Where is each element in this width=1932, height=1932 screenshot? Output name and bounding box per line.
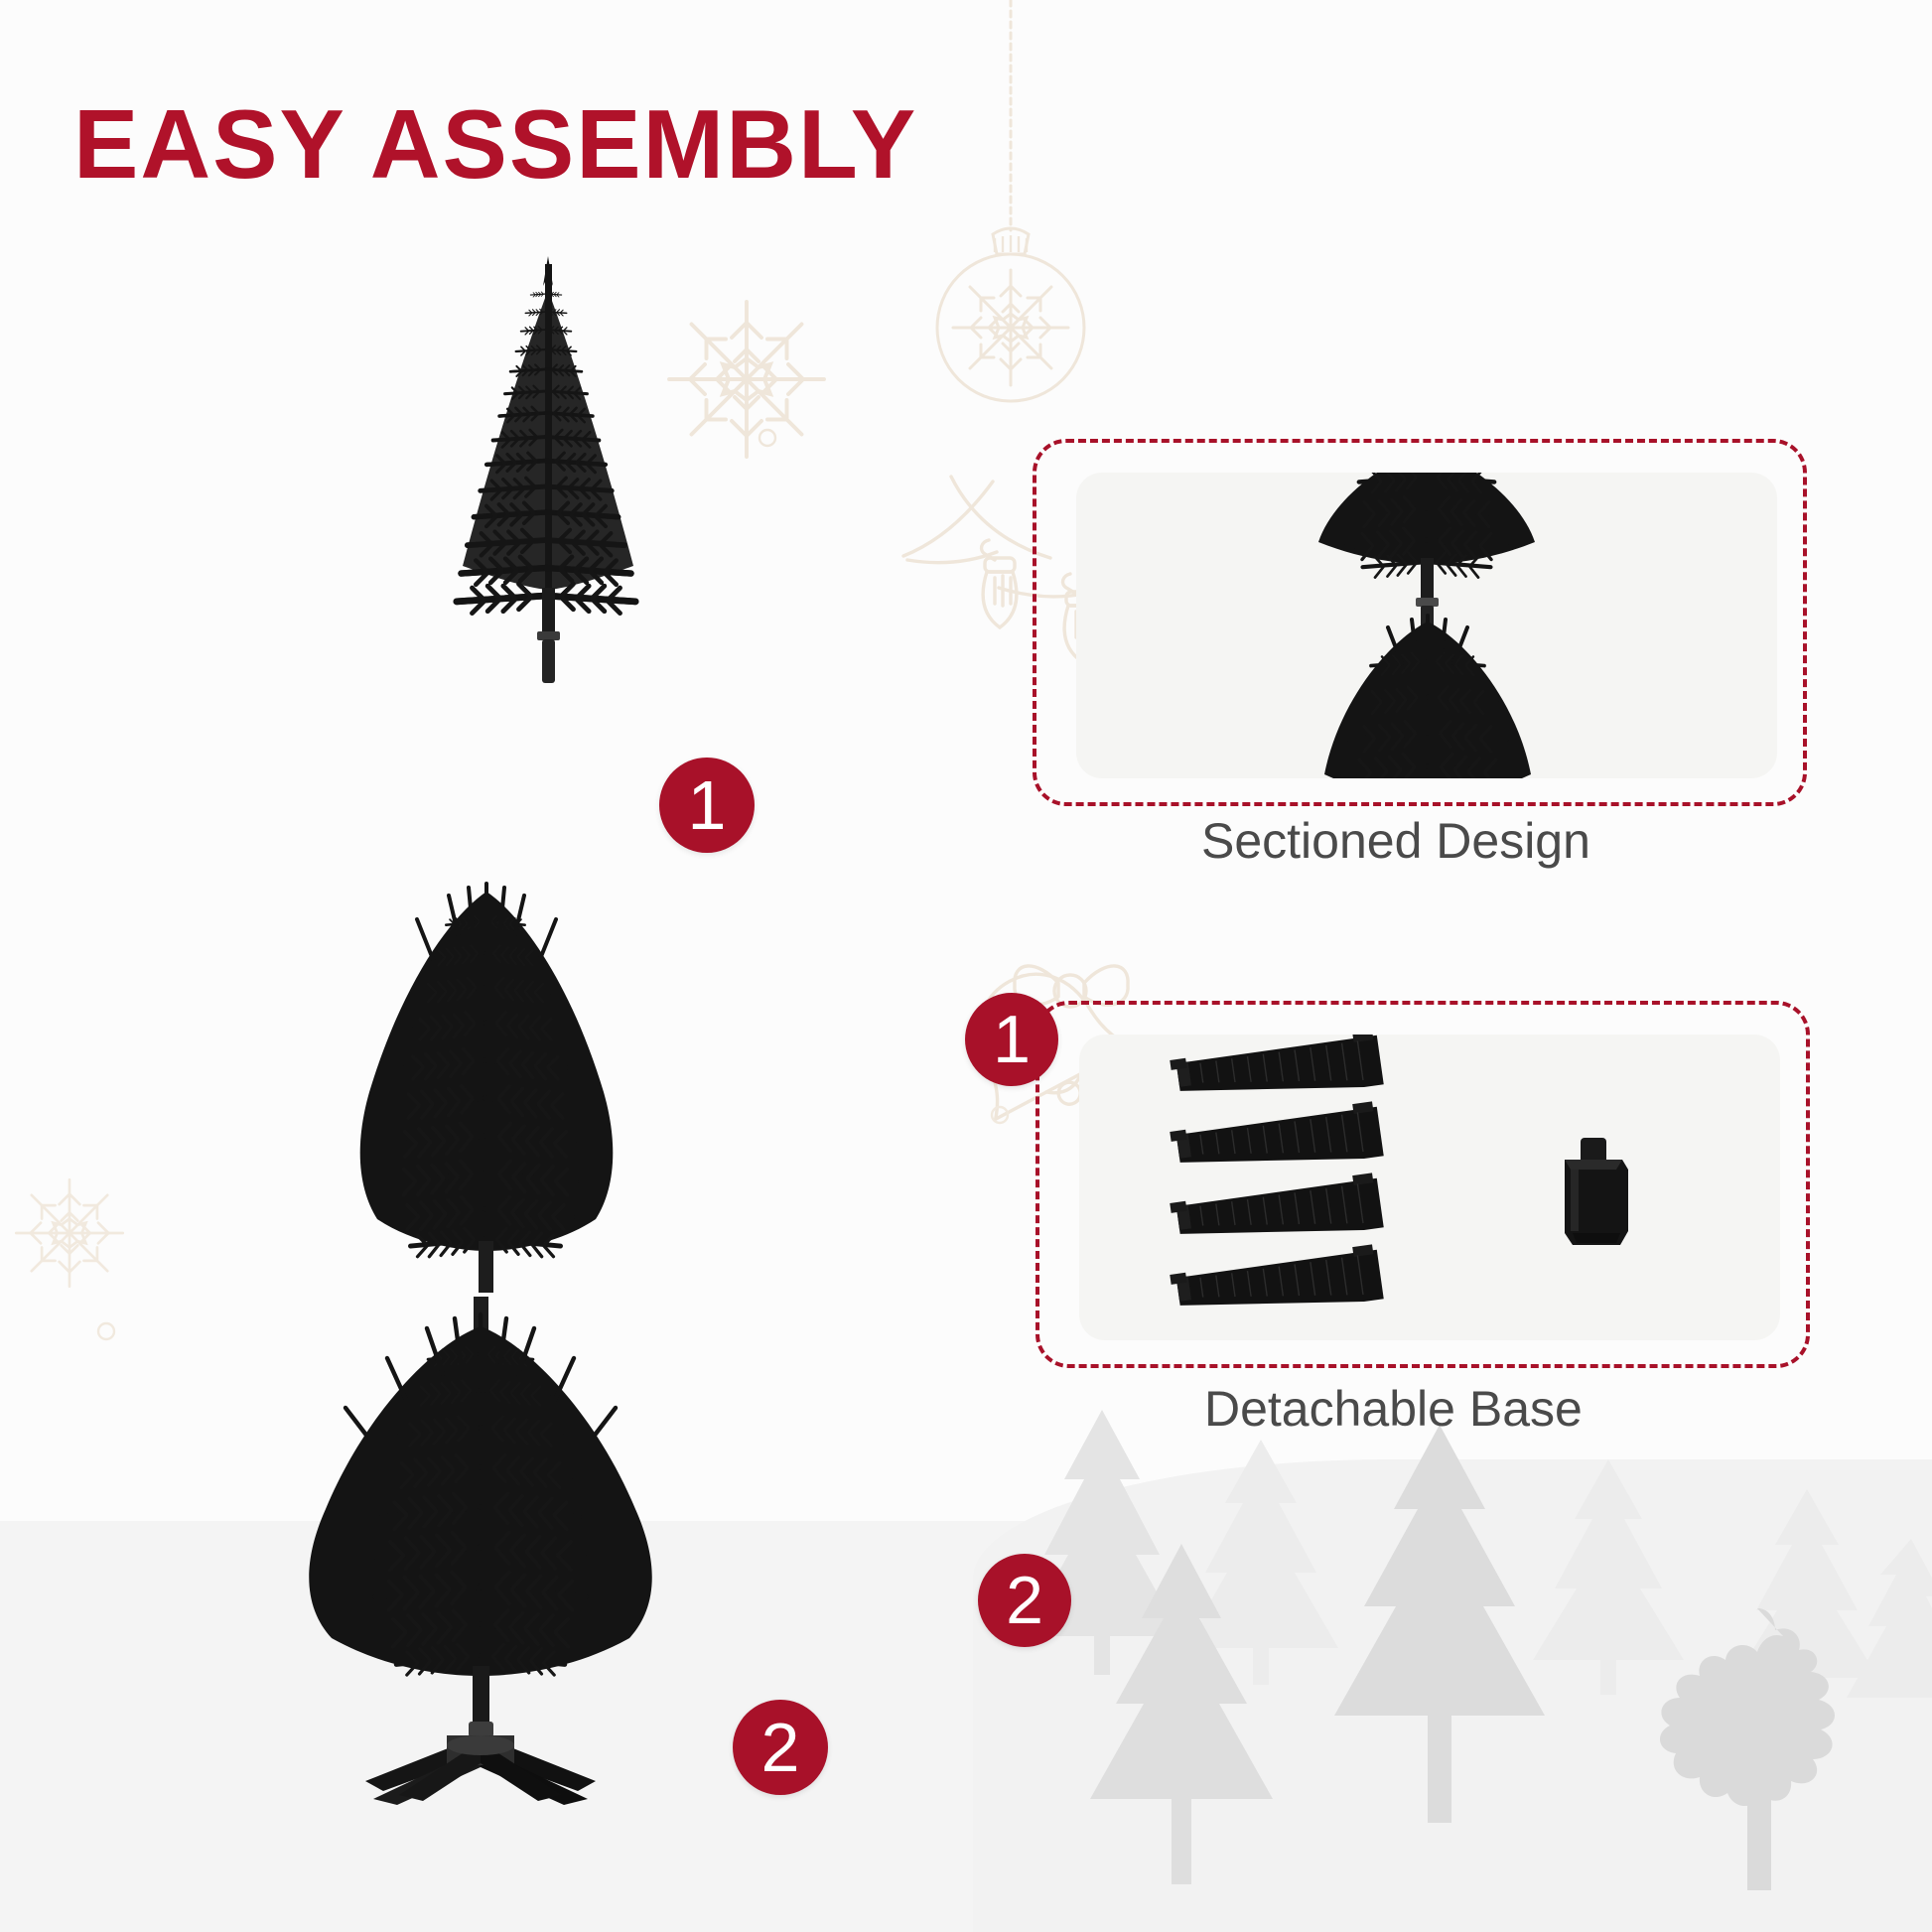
callout-badge-2: 2 — [978, 1554, 1071, 1647]
step-marker-1: 1 — [659, 758, 755, 853]
base-leg — [1170, 1244, 1384, 1328]
tree-top-section — [377, 250, 719, 687]
tree-bottom-section — [248, 1297, 715, 1803]
step-marker-2: 2 — [733, 1700, 828, 1795]
circle-dot-icon — [989, 1104, 1011, 1126]
callout-caption-1: Sectioned Design — [1201, 812, 1590, 870]
base-center-sleeve — [1565, 1138, 1628, 1245]
snow-ground-right — [973, 1459, 1932, 1932]
ornament-ball-icon — [921, 0, 1100, 417]
base-leg — [1170, 1035, 1384, 1113]
circle-dot-icon — [757, 427, 778, 449]
callout-panel-2 — [1079, 1035, 1780, 1340]
callout-card-detachable-base — [1035, 1001, 1810, 1368]
infographic-canvas: EASY ASSEMBLY — [0, 0, 1932, 1932]
snowflake-icon — [8, 1172, 131, 1295]
page-title: EASY ASSEMBLY — [73, 95, 917, 193]
tree-middle-section — [274, 878, 699, 1295]
callout-panel-1 — [1076, 473, 1777, 778]
pine-tree-silhouette-icon — [1013, 1370, 1932, 1932]
detachable-base-illustration — [1162, 1052, 1698, 1340]
base-leg — [1170, 1101, 1384, 1185]
sectioned-design-illustration — [1263, 473, 1590, 778]
base-leg — [1170, 1173, 1384, 1257]
circle-dot-icon — [95, 1320, 117, 1342]
callout-badge-1: 1 — [965, 993, 1058, 1086]
callout-caption-2: Detachable Base — [1204, 1380, 1583, 1438]
callout-card-sectioned-design — [1033, 439, 1807, 806]
base-stand — [365, 1735, 596, 1805]
